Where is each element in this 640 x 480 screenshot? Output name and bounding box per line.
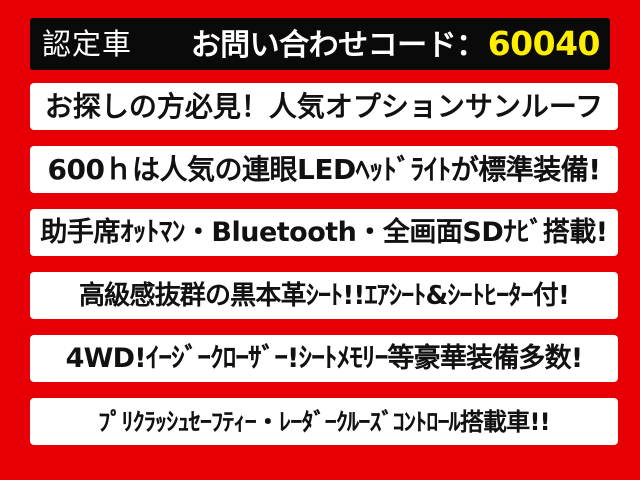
feature-row: 高級感抜群の黒本革ｼｰﾄ!!ｴｱｼｰﾄ&ｼｰﾄﾋｰﾀｰ付! [30, 272, 618, 319]
feature-row: 600ｈは人気の連眼LEDﾍｯﾄﾞﾗｲﾄが標準装備! [30, 146, 618, 193]
feature-row-text: お探しの方必見！人気オプションサンルーフ [45, 93, 603, 121]
feature-row-text: 高級感抜群の黒本革ｼｰﾄ!!ｴｱｼｰﾄ&ｼｰﾄﾋｰﾀｰ付! [79, 283, 569, 309]
inquiry-code-label: お問い合わせコード： [191, 31, 486, 61]
inquiry-code-value: 60040 [486, 27, 600, 60]
feature-row-text: 助手席ｵｯﾄﾏﾝ・Bluetooth・全画面SDﾅﾋﾞ搭載! [40, 219, 607, 246]
feature-row-text: ﾌﾟﾘｸﾗｯｼｭｾｰﾌﾃｨｰ・ﾚｰﾀﾞｰｸﾙｰｽﾞｺﾝﾄﾛｰﾙ搭載車!! [98, 410, 550, 434]
feature-row-text: 600ｈは人気の連眼LEDﾍｯﾄﾞﾗｲﾄが標準装備! [48, 156, 601, 184]
feature-row: ﾌﾟﾘｸﾗｯｼｭｾｰﾌﾃｨｰ・ﾚｰﾀﾞｰｸﾙｰｽﾞｺﾝﾄﾛｰﾙ搭載車!! [30, 398, 618, 445]
feature-row: 4WD!ｲｰｼﾞｰｸﾛｰｻﾞｰ!ｼｰﾄﾒﾓﾘｰ等豪華装備多数! [30, 335, 618, 382]
vehicle-listing-banner: 認定車 お問い合わせコード： 60040 お探しの方必見！人気オプションサンルー… [0, 0, 640, 480]
inquiry-code-group: お問い合わせコード： 60040 [132, 27, 600, 61]
header-bar: 認定車 お問い合わせコード： 60040 [30, 18, 610, 70]
feature-row-text: 4WD!ｲｰｼﾞｰｸﾛｰｻﾞｰ!ｼｰﾄﾒﾓﾘｰ等豪華装備多数! [66, 345, 583, 372]
certification-label: 認定車 [42, 30, 132, 59]
feature-list: お探しの方必見！人気オプションサンルーフ 600ｈは人気の連眼LEDﾍｯﾄﾞﾗｲ… [30, 83, 618, 461]
feature-row: 助手席ｵｯﾄﾏﾝ・Bluetooth・全画面SDﾅﾋﾞ搭載! [30, 209, 618, 256]
feature-row: お探しの方必見！人気オプションサンルーフ [30, 83, 618, 130]
